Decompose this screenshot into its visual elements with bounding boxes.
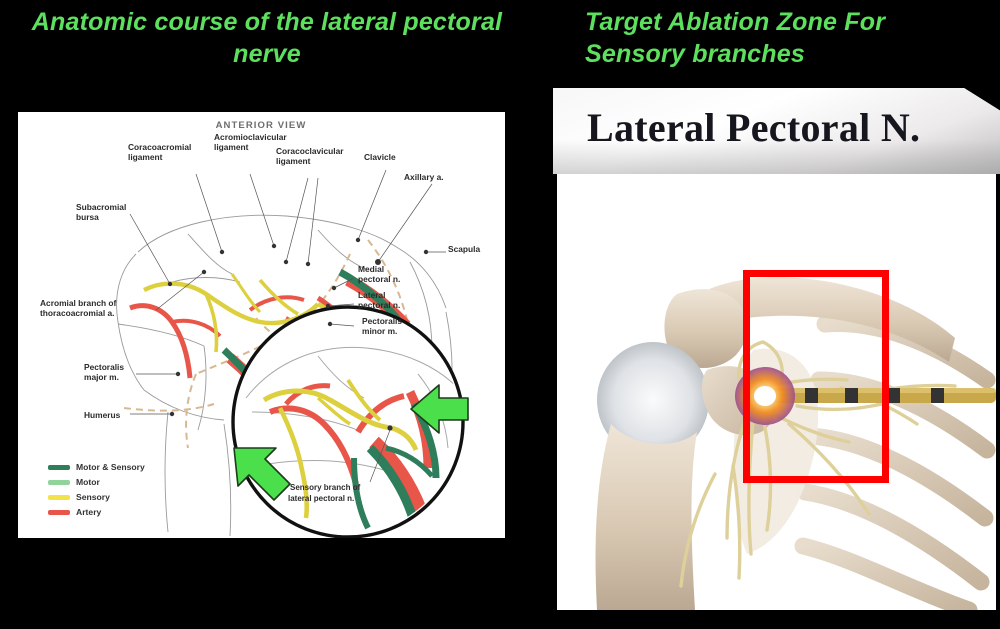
label-acromial-branch-line1: Acromial branch of [40,298,117,308]
label-sensory-branch-line1: Sensory branch of [290,483,361,492]
anatomy-3d-render [557,174,996,610]
page-title-right: Target Ablation Zone For Sensory branche… [585,6,985,70]
legend-swatch-motor-sensory [48,465,70,470]
label-coracoacromial-line1: Coracoacromial [128,142,191,152]
label-pec-major-line2: major m. [84,372,119,382]
banner-title: Lateral Pectoral N. [587,104,920,151]
anatomic-illustration-panel: ANTERIOR VIEW [18,112,505,538]
target-ablation-zone-box [743,270,889,483]
legend: Motor & Sensory Motor Sensory Artery [48,462,145,517]
legend-swatch-sensory [48,495,70,500]
label-subacromial-line2: bursa [76,212,99,222]
label-acromioclavicular-line2: ligament [214,142,249,152]
label-pec-minor-line2: minor m. [362,326,397,336]
label-subacromial-line1: Subacromial [76,202,126,212]
label-pec-major-line1: Pectoralis [84,362,124,372]
label-clavicle: Clavicle [364,152,396,162]
label-medial-pn-line2: pectoral n. [358,274,400,284]
label-coracoclavicular-line2: ligament [276,156,311,166]
label-coracoclavicular-line1: Coracoclavicular [276,146,344,156]
label-coracoacromial-line2: ligament [128,152,163,162]
legend-label-sensory: Sensory [76,492,110,502]
legend-swatch-motor [48,480,70,485]
ablation-target-panel: Lateral Pectoral N. [553,88,1000,615]
label-scapula: Scapula [448,244,480,254]
label-lateral-pn-line1: Lateral [358,290,385,300]
label-humerus: Humerus [84,410,121,420]
legend-label-motor-sensory: Motor & Sensory [76,462,145,472]
label-medial-pn-line1: Medial [358,264,384,274]
label-pec-minor-line1: Pectoralis [362,316,402,326]
legend-label-artery: Artery [76,507,102,517]
label-acromial-branch-line2: thoracoacromial a. [40,308,114,318]
label-sensory-branch-line2: lateral pectoral n. [288,494,354,503]
slide-root: Anatomic course of the lateral pectoral … [0,0,1000,629]
legend-swatch-artery [48,510,70,515]
page-title-left: Anatomic course of the lateral pectoral … [22,6,512,70]
label-axillary-artery: Axillary a. [404,172,444,182]
legend-label-motor: Motor [76,477,101,487]
anatomy-diagram: ANTERIOR VIEW [18,112,505,538]
label-acromioclavicular-line1: Acromioclavicular [214,132,287,142]
label-lateral-pn-line2: pectoral n. [358,300,400,310]
anterior-view-label: ANTERIOR VIEW [216,120,307,131]
